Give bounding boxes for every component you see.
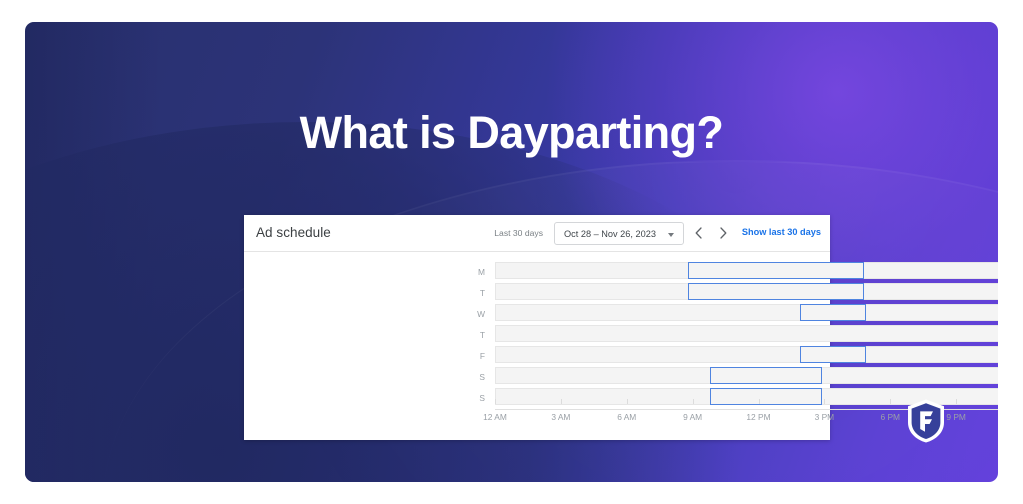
x-axis-tick xyxy=(824,399,825,404)
day-label: S xyxy=(461,393,485,403)
day-label: F xyxy=(461,351,485,361)
chart-plot-area xyxy=(495,262,998,409)
x-axis-tick xyxy=(956,399,957,404)
day-label: T xyxy=(461,330,485,340)
hero-panel: What is Dayparting? Ad schedule Last 30 … xyxy=(25,22,998,482)
schedule-bar[interactable] xyxy=(710,388,822,405)
x-axis-tick xyxy=(495,399,496,404)
schedule-bar[interactable] xyxy=(800,346,866,363)
ad-schedule-card: Ad schedule Last 30 days Oct 28 – Nov 26… xyxy=(244,215,830,440)
x-axis-tick xyxy=(890,399,891,404)
schedule-bar[interactable] xyxy=(710,367,822,384)
x-axis-label: 6 PM xyxy=(880,412,900,422)
day-label: S xyxy=(461,372,485,382)
x-axis-tick xyxy=(759,399,760,404)
x-axis-tick xyxy=(627,399,628,404)
x-axis-label: 12 AM xyxy=(483,412,507,422)
card-header: Ad schedule Last 30 days Oct 28 – Nov 26… xyxy=(244,215,830,252)
day-label: T xyxy=(461,288,485,298)
schedule-bar[interactable] xyxy=(800,304,866,321)
card-title: Ad schedule xyxy=(256,225,331,240)
x-axis-tick xyxy=(561,399,562,404)
show-last-30-days-link[interactable]: Show last 30 days xyxy=(742,227,821,237)
day-label: W xyxy=(461,309,485,319)
x-axis-label: 6 AM xyxy=(617,412,636,422)
date-range-value: Oct 28 – Nov 26, 2023 xyxy=(564,229,656,239)
schedule-bar[interactable] xyxy=(688,283,864,300)
schedule-row[interactable] xyxy=(495,325,998,342)
day-label: M xyxy=(461,267,485,277)
screenshot-canvas: What is Dayparting? Ad schedule Last 30 … xyxy=(0,0,1023,504)
x-axis-label: 3 AM xyxy=(551,412,570,422)
ad-schedule-chart: MTWTFSS12 AM3 AM6 AM9 AM12 PM3 PM6 PM9 P… xyxy=(244,252,830,440)
shield-f-logo xyxy=(906,398,946,444)
date-range-select[interactable]: Oct 28 – Nov 26, 2023 xyxy=(554,222,684,245)
x-axis-label: 12 PM xyxy=(746,412,770,422)
x-axis-tick xyxy=(693,399,694,404)
chevron-down-icon xyxy=(668,233,674,237)
page-title: What is Dayparting? xyxy=(25,108,998,158)
x-axis-label: 9 AM xyxy=(683,412,702,422)
schedule-bar[interactable] xyxy=(688,262,864,279)
next-period-button[interactable] xyxy=(714,223,732,243)
x-axis-label: 3 PM xyxy=(815,412,835,422)
range-note-label: Last 30 days xyxy=(494,228,543,238)
schedule-row[interactable] xyxy=(495,304,998,321)
schedule-row[interactable] xyxy=(495,346,998,363)
x-axis-label: 9 PM xyxy=(946,412,966,422)
prev-period-button[interactable] xyxy=(690,223,708,243)
